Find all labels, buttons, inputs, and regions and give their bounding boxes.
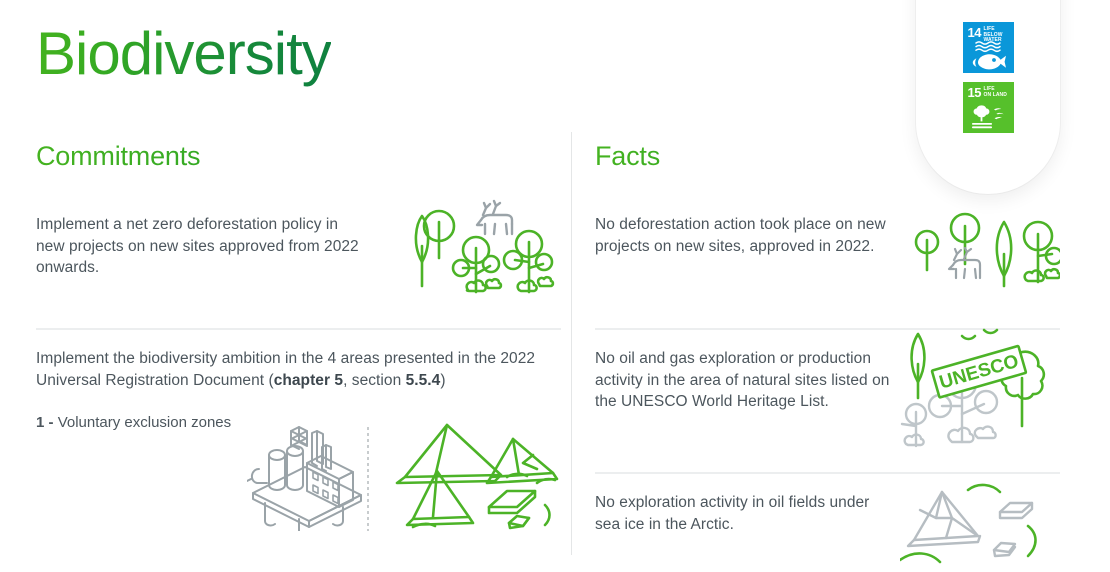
commitment-2-text-part-2: chapter 5 [274,372,343,389]
commitment-1-text: Implement a net zero deforestation polic… [36,198,366,279]
commitments-heading: Commitments [36,140,561,172]
fact-2-text: No oil and gas exploration or production… [595,330,895,413]
mountains-and-icebergs-illustration [385,419,561,537]
oil-platform-illustration [247,419,367,531]
sdg-badge-title-line2: On Land [984,92,1007,98]
commitment-2-text-part-3: , section [343,372,406,389]
commitment-2-subitem-label: Voluntary exclusion zones [58,414,231,431]
column-divider [571,132,572,555]
trees-and-deer-illustration [910,198,1060,298]
fact-row-1: No deforestation action took place on ne… [595,198,1060,298]
fish-and-waves-icon [963,39,1014,73]
commitment-2-text-part-5: ) [440,372,445,389]
iceberg-sea-illustration [900,478,1060,572]
unesco-banner-trees-illustration: UNESCO [900,322,1060,460]
fact-3-text: No exploration activity in oil fields un… [595,474,895,535]
tree-and-birds-icon [963,99,1014,133]
sdg-badge-number: 15 [968,86,981,99]
commitment-row-2: Implement the biodiversity ambition in t… [36,330,561,537]
sdg-badge-14-life-below-water: 14 Life Below Water [963,22,1014,73]
facts-heading: Facts [595,140,1060,172]
facts-column: Facts No deforestation action took place… [595,140,1060,572]
fact-1-text: No deforestation action took place on ne… [595,198,895,257]
commitment-2-text-part-4: 5.5.4 [406,372,441,389]
sdg-badge-title: Life On Land [984,87,1007,98]
commitment-2-text: Implement the biodiversity ambition in t… [36,330,561,391]
commitments-column: Commitments Implement a net zero defores… [36,140,561,537]
dotted-divider [367,427,369,531]
commitment-row-1: Implement a net zero deforestation polic… [36,198,561,306]
sdg-badge-15-life-on-land: 15 Life On Land [963,82,1014,133]
page-title: Biodiversity [36,20,331,88]
trees-and-deer-illustration [413,198,561,306]
sdg-badge-number: 14 [968,26,981,39]
fact-row-3: No exploration activity in oil fields un… [595,474,1060,572]
deer-icon [477,201,512,234]
fact-row-2: No oil and gas exploration or production… [595,330,1060,460]
biodiversity-infographic: 14 Life Below Water 15 L [0,0,1110,555]
commitment-2-subitem-number: 1 - [36,414,54,431]
